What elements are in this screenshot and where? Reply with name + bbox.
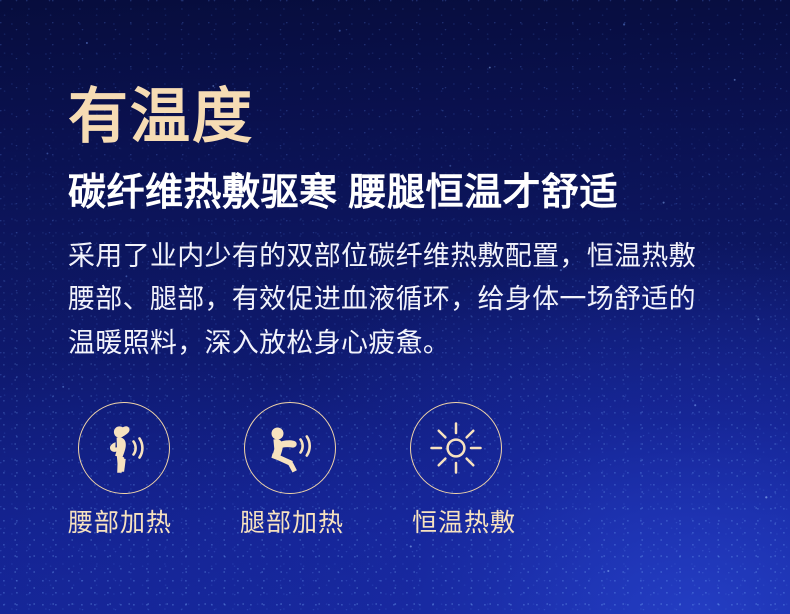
feature-icon-badge [244,402,336,494]
body-description: 采用了业内少有的双部位碳纤维热敷配置，恒温热敷腰部、腿部，有效促进血液循环，给身… [68,235,718,366]
feature-label: 腰部加热 [68,508,234,538]
page-title: 有温度 [68,84,790,150]
feature-icon-badge [410,402,502,494]
feature-item-constant-temp: 恒温热敷 [400,402,566,538]
feature-item-leg-heat: 腿部加热 [234,402,400,538]
feature-label: 腿部加热 [240,508,400,538]
feature-list: 腰部加热 [68,402,790,538]
seated-person-leg-heat-icon [260,418,320,478]
page-subtitle: 碳纤维热敷驱寒 腰腿恒温才舒适 [68,172,790,215]
sun-constant-temperature-icon [427,419,485,477]
feature-label: 恒温热敷 [412,508,566,538]
standing-person-waist-heat-icon [94,418,154,478]
feature-item-waist-heat: 腰部加热 [68,402,234,538]
feature-icon-badge [78,402,170,494]
poster-content: 有温度 碳纤维热敷驱寒 腰腿恒温才舒适 采用了业内少有的双部位碳纤维热敷配置，恒… [0,84,790,538]
promo-poster: 有温度 碳纤维热敷驱寒 腰腿恒温才舒适 采用了业内少有的双部位碳纤维热敷配置，恒… [0,0,790,614]
